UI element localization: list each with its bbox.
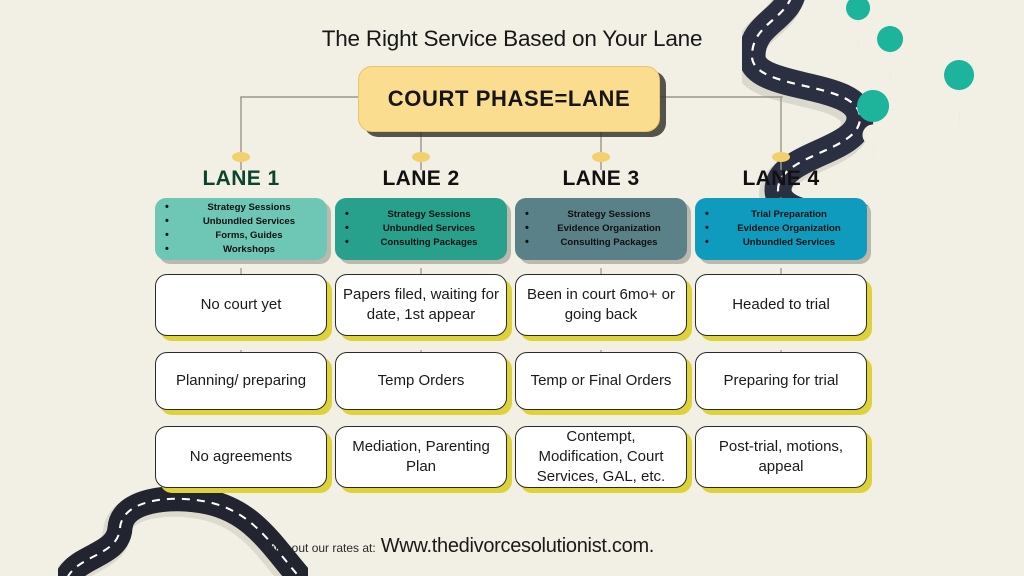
service-item: Unbundled Services	[705, 236, 863, 250]
service-box-wrap-4: Trial PreparationEvidence OrganizationUn…	[695, 198, 867, 260]
step-box-next[interactable]: No agreements	[155, 426, 327, 488]
footer-label: Find out our rates at:	[265, 541, 376, 555]
service-box-wrap-2: Strategy SessionsUnbundled ServicesConsu…	[335, 198, 507, 260]
lane-column-4: LANE 4Trial PreparationEvidence Organiza…	[695, 168, 867, 504]
service-box-2[interactable]: Strategy SessionsUnbundled ServicesConsu…	[335, 198, 507, 260]
step-box-status[interactable]: Been in court 6mo+ or going back	[515, 274, 687, 336]
map-pin-4	[857, 90, 889, 168]
service-item: Trial Preparation	[705, 208, 863, 222]
lane-title-3: LANE 3	[515, 168, 687, 189]
step-box-next[interactable]: Contempt, Modification, Court Services, …	[515, 426, 687, 488]
lane-column-3: LANE 3Strategy SessionsEvidence Organiza…	[515, 168, 687, 504]
service-box-wrap-1: Strategy SessionsUnbundled ServicesForms…	[155, 198, 327, 260]
step-box-status[interactable]: Headed to trial	[695, 274, 867, 336]
service-item: Strategy Sessions	[525, 208, 683, 222]
step-box-orders[interactable]: Temp Orders	[335, 352, 507, 410]
step-wrap-orders-4: Preparing for trial	[695, 352, 867, 410]
lane-title-1: LANE 1	[155, 168, 327, 189]
service-item: Workshops	[165, 243, 323, 257]
footer: Find out our rates at: Www.thedivorcesol…	[265, 535, 654, 558]
service-item: Consulting Packages	[525, 236, 683, 250]
service-item: Unbundled Services	[345, 222, 503, 236]
service-item: Evidence Organization	[525, 222, 683, 236]
service-list: Strategy SessionsUnbundled ServicesConsu…	[345, 208, 503, 250]
service-item: Strategy Sessions	[345, 208, 503, 222]
service-item: Strategy Sessions	[165, 201, 323, 215]
service-box-wrap-3: Strategy SessionsEvidence OrganizationCo…	[515, 198, 687, 260]
step-box-status[interactable]: Papers filed, waiting for date, 1st appe…	[335, 274, 507, 336]
service-list: Strategy SessionsUnbundled ServicesForms…	[165, 201, 323, 257]
lane-column-1: LANE 1Strategy SessionsUnbundled Service…	[155, 168, 327, 504]
service-list: Strategy SessionsEvidence OrganizationCo…	[525, 208, 683, 250]
lane-title-4: LANE 4	[695, 168, 867, 189]
step-box-next[interactable]: Post-trial, motions, appeal	[695, 426, 867, 488]
service-item: Unbundled Services	[165, 215, 323, 229]
step-box-orders[interactable]: Preparing for trial	[695, 352, 867, 410]
page-title: The Right Service Based on Your Lane	[0, 26, 1024, 52]
service-item: Consulting Packages	[345, 236, 503, 250]
service-item: Forms, Guides	[165, 229, 323, 243]
connector-badge-lane2	[412, 152, 430, 162]
service-item: Evidence Organization	[705, 222, 863, 236]
service-box-1[interactable]: Strategy SessionsUnbundled ServicesForms…	[155, 198, 327, 260]
step-wrap-orders-2: Temp Orders	[335, 352, 507, 410]
step-wrap-status-3: Been in court 6mo+ or going back	[515, 274, 687, 336]
step-wrap-next-4: Post-trial, motions, appeal	[695, 426, 867, 488]
step-box-status[interactable]: No court yet	[155, 274, 327, 336]
court-phase-banner: COURT PHASE=LANE	[358, 66, 660, 132]
road-edge-shadow-bottom	[61, 503, 299, 576]
lane-column-2: LANE 2Strategy SessionsUnbundled Service…	[335, 168, 507, 504]
service-list: Trial PreparationEvidence OrganizationUn…	[705, 208, 863, 250]
map-pin-3	[944, 60, 974, 132]
step-box-next[interactable]: Mediation, Parenting Plan	[335, 426, 507, 488]
step-wrap-orders-3: Temp or Final Orders	[515, 352, 687, 410]
footer-url[interactable]: Www.thedivorcesolutionist.com.	[381, 535, 654, 558]
step-wrap-status-4: Headed to trial	[695, 274, 867, 336]
court-phase-banner-wrap: COURT PHASE=LANE	[358, 66, 660, 132]
step-wrap-next-2: Mediation, Parenting Plan	[335, 426, 507, 488]
service-box-3[interactable]: Strategy SessionsEvidence OrganizationCo…	[515, 198, 687, 260]
infographic-canvas: The Right Service Based on Your Lane COU…	[0, 0, 1024, 576]
step-wrap-next-1: No agreements	[155, 426, 327, 488]
connector-badge-lane3	[592, 152, 610, 162]
step-wrap-next-3: Contempt, Modification, Court Services, …	[515, 426, 687, 488]
service-box-4[interactable]: Trial PreparationEvidence OrganizationUn…	[695, 198, 867, 260]
step-wrap-orders-1: Planning/ preparing	[155, 352, 327, 410]
lane-title-2: LANE 2	[335, 168, 507, 189]
step-box-orders[interactable]: Temp or Final Orders	[515, 352, 687, 410]
connector-badge-lane4	[772, 152, 790, 162]
step-wrap-status-2: Papers filed, waiting for date, 1st appe…	[335, 274, 507, 336]
step-box-orders[interactable]: Planning/ preparing	[155, 352, 327, 410]
step-wrap-status-1: No court yet	[155, 274, 327, 336]
connector-badge-lane1	[232, 152, 250, 162]
